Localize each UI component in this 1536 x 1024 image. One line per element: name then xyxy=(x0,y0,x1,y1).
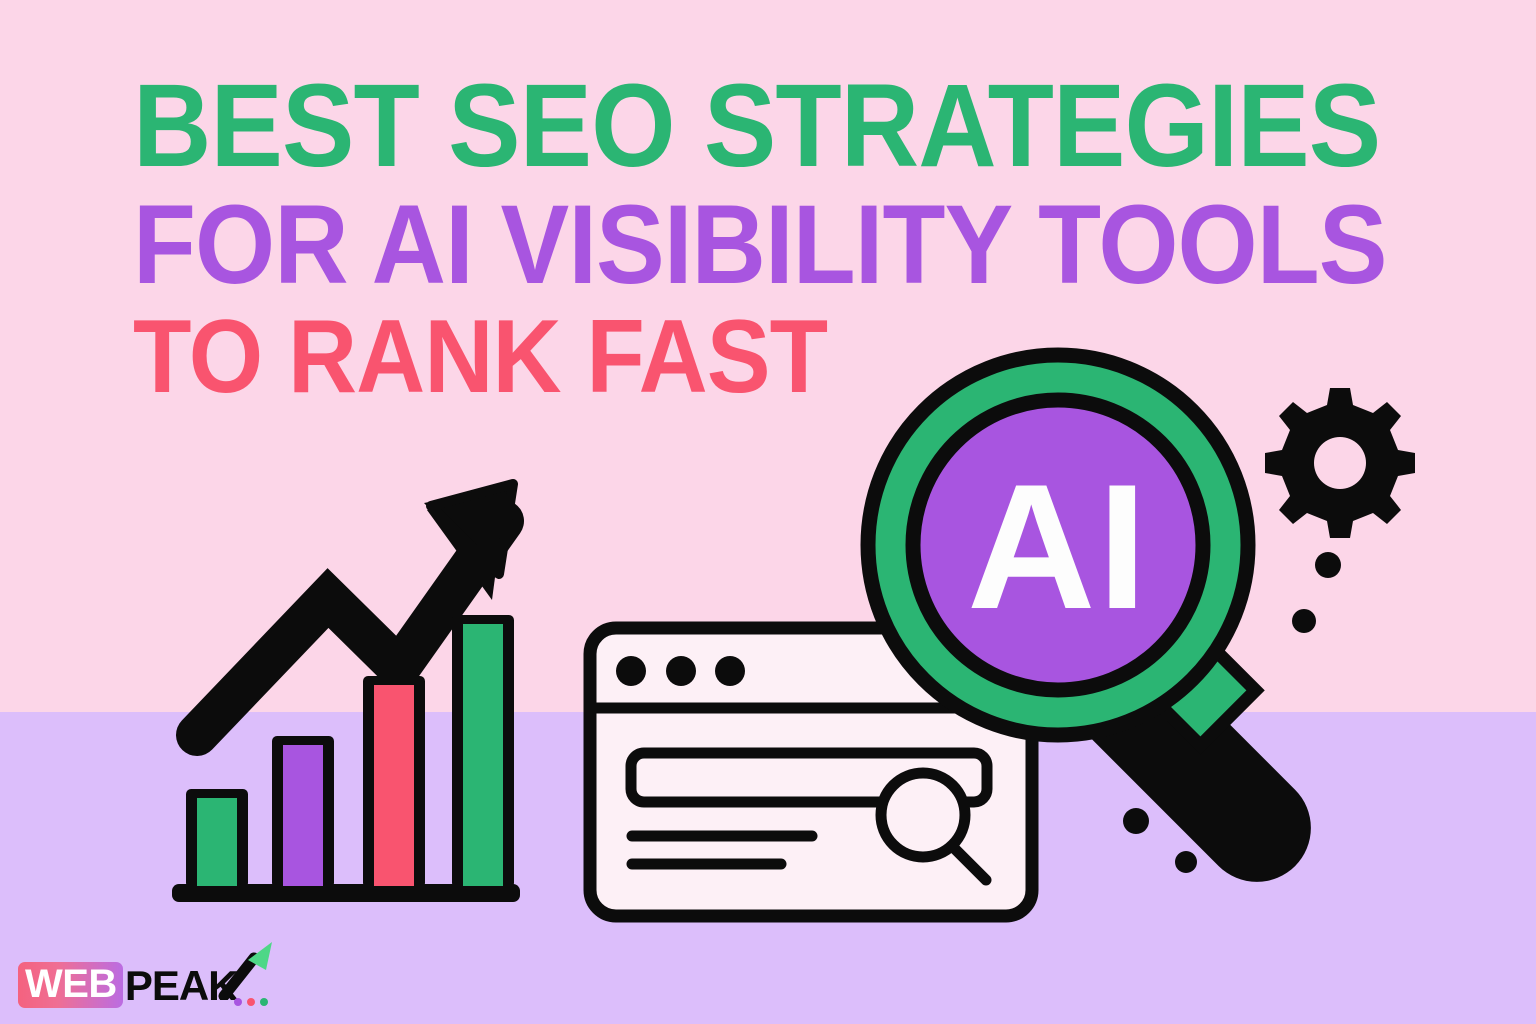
logo-dot-pink xyxy=(247,998,255,1006)
logo-dot-purple xyxy=(234,998,242,1006)
headline-line-2: FOR AI VISIBILITY TOOLS xyxy=(133,193,1311,296)
headline-block: BEST SEO STRATEGIES FOR AI VISIBILITY TO… xyxy=(133,72,1413,405)
poster-canvas: BEST SEO STRATEGIES FOR AI VISIBILITY TO… xyxy=(0,0,1536,1024)
logo-dots-group xyxy=(234,998,268,1006)
headline-line-3: TO RANK FAST xyxy=(133,310,1311,406)
brand-logo[interactable]: WEB PEAK xyxy=(18,946,238,1008)
logo-badge-web: WEB xyxy=(18,962,123,1008)
logo-dot-green xyxy=(260,998,268,1006)
logo-growth-arrow-icon xyxy=(214,938,276,1000)
headline-line-1: BEST SEO STRATEGIES xyxy=(133,72,1311,181)
